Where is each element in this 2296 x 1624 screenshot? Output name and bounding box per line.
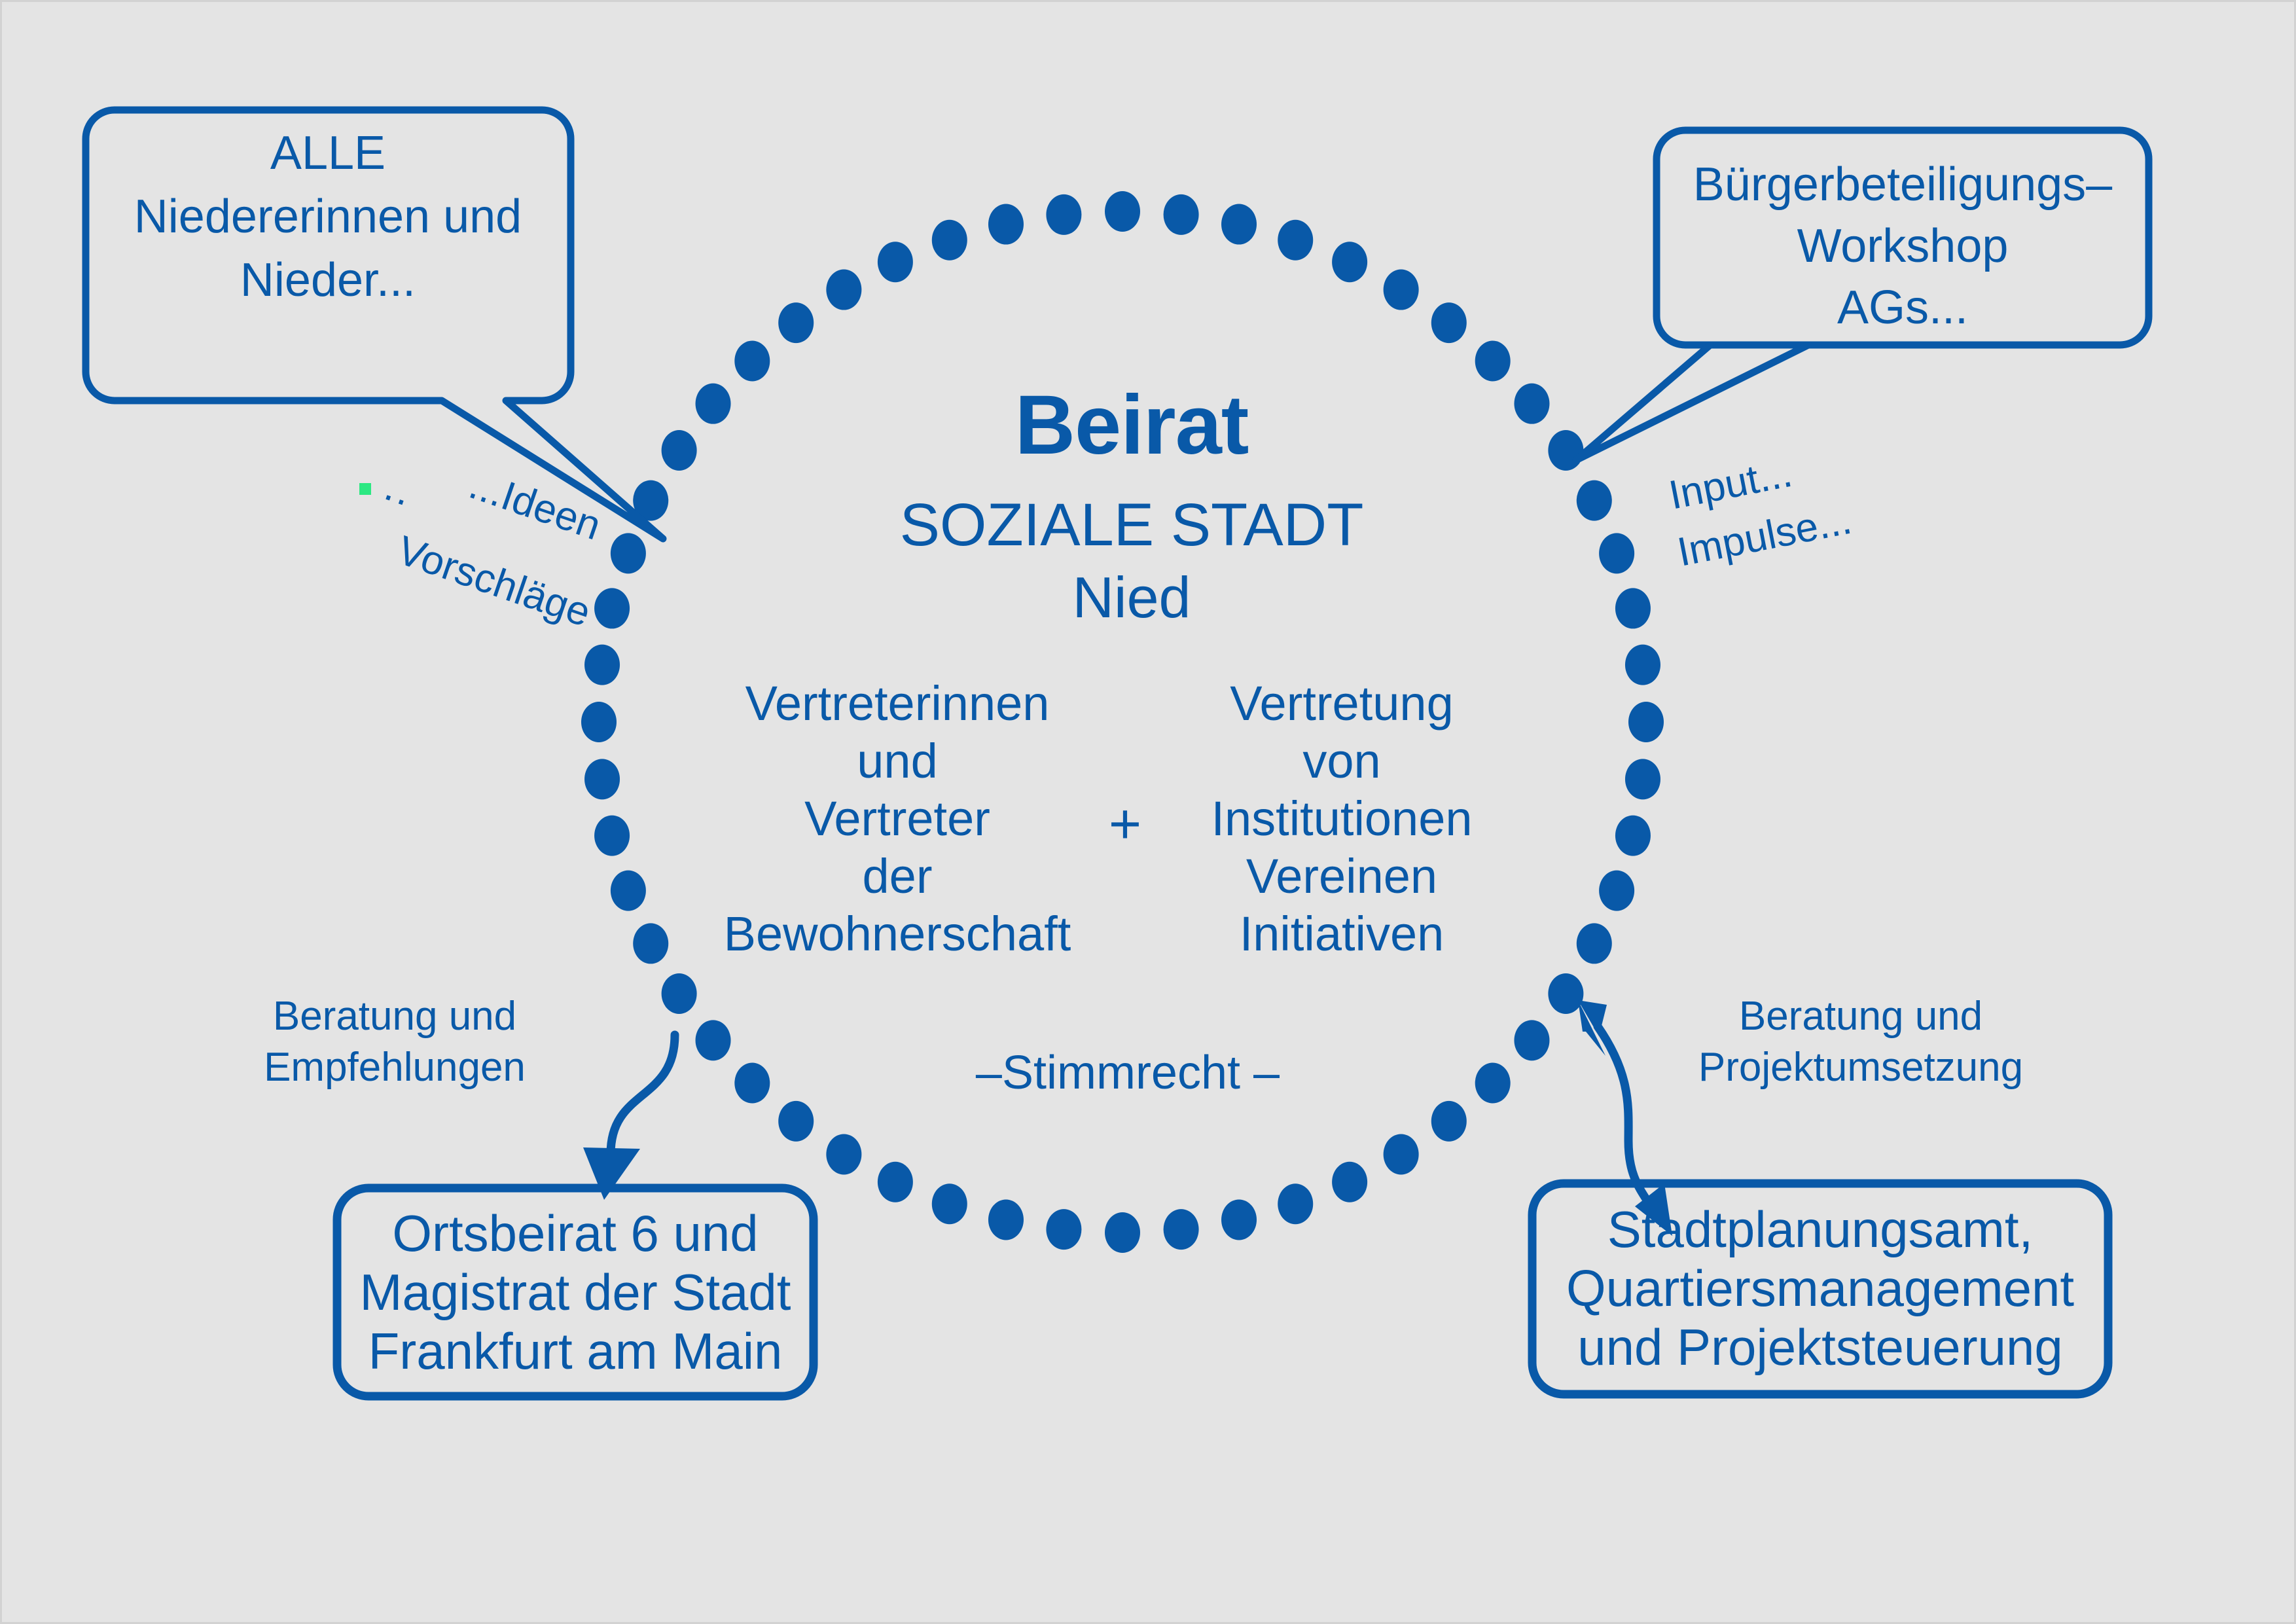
circle-dot	[611, 533, 646, 573]
center-title-block: Beirat SOZIALE STADT Nied	[900, 378, 1364, 630]
circle-dot	[1164, 194, 1199, 235]
annotation-input: Input...	[1666, 450, 1796, 518]
bubble-top-right-line-1: Bürgerbeteiligungs–	[1693, 158, 2113, 211]
circle-dot	[778, 1101, 814, 1142]
circle-dot	[988, 204, 1024, 245]
arrow-left-beratung	[583, 1035, 675, 1200]
left-column-line-2: und	[857, 734, 937, 788]
circle-dot	[826, 270, 861, 310]
bubble-top-left-line-3: Nieder...	[240, 254, 416, 306]
circle-dot	[1625, 645, 1660, 685]
circle-dot	[1046, 1209, 1081, 1250]
circle-dot	[1384, 270, 1419, 310]
circle-dot	[734, 1063, 770, 1104]
circle-dot	[1105, 191, 1140, 232]
box-stadtplanungsamt[interactable]: Stadtplanungsamt, Quartiersmanagement un…	[1532, 1183, 2108, 1394]
circle-dot	[1475, 340, 1511, 381]
circle-dot	[1221, 1199, 1257, 1240]
circle-dot	[1615, 816, 1651, 856]
label-beratung-projektumsetzung-line-1: Beratung und	[1739, 994, 1982, 1039]
label-beratung-empfehlungen-line-1: Beratung und	[273, 994, 516, 1039]
circle-dot	[1278, 220, 1313, 261]
circle-dot	[1105, 1212, 1140, 1253]
circle-dot	[696, 1020, 731, 1060]
circle-dot	[988, 1199, 1024, 1240]
circle-dot	[1577, 480, 1612, 521]
circle-dot	[1431, 1101, 1467, 1142]
beirat-soziale-stadt-diagram: ALLE Niedererinnen und Nieder... Bürgerb…	[2, 2, 2296, 1624]
bubble-top-left-line-2: Niedererinnen und	[134, 190, 522, 243]
bubble-top-left-line-1: ALLE	[270, 127, 386, 179]
circle-dot	[1615, 588, 1651, 628]
speech-bubble-top-left[interactable]: ALLE Niedererinnen und Nieder...	[86, 110, 663, 539]
box-stadtplanungsamt-line-3: und Projektsteuerung	[1577, 1318, 2063, 1376]
left-column-line-1: Vertreterinnen	[745, 676, 1050, 731]
box-ortsbeirat-line-1: Ortsbeirat 6 und	[392, 1204, 758, 1262]
box-ortsbeirat-line-3: Frankfurt am Main	[368, 1322, 783, 1380]
annotation-vorschlaege: Vorschläge	[391, 528, 596, 636]
circle-dot	[878, 242, 913, 282]
stimmrecht-footnote: –Stimmrecht –	[976, 1047, 1280, 1099]
right-column-line-2: von	[1302, 734, 1380, 788]
bubble-top-right-line-3: AGs...	[1837, 281, 1968, 334]
circle-dot	[1548, 430, 1583, 471]
circle-dot	[1431, 302, 1467, 343]
circle-dot	[734, 340, 770, 381]
left-column-line-5: Bewohnerschaft	[724, 907, 1071, 961]
left-column-line-4: der	[863, 849, 933, 903]
circle-dot	[1599, 533, 1634, 573]
circle-dot	[778, 302, 814, 343]
box-stadtplanungsamt-line-2: Quartiersmanagement	[1566, 1259, 2074, 1317]
left-column-line-3: Vertreter	[804, 791, 990, 846]
circle-dot	[1278, 1183, 1313, 1224]
annotation-ellipsis-marker: ··	[375, 472, 416, 524]
arrow-left-curve	[611, 1035, 675, 1154]
circle-dot	[932, 220, 967, 261]
circle-dot	[662, 973, 697, 1014]
circle-dot	[1514, 1020, 1549, 1060]
circle-dot	[1384, 1134, 1419, 1174]
bubble-top-right-line-2: Workshop	[1797, 220, 2009, 272]
box-ortsbeirat-magistrat[interactable]: Ortsbeirat 6 und Magistrat der Stadt Fra…	[337, 1188, 814, 1396]
circle-dot	[1332, 242, 1367, 282]
circle-dot	[1628, 702, 1664, 742]
arrow-right-curve	[1598, 1026, 1650, 1205]
circle-dot	[1599, 871, 1634, 911]
circle-dot	[826, 1134, 861, 1174]
annotation-input-impulse: Input... Impulse...	[1666, 450, 1856, 575]
circle-dot	[1514, 384, 1549, 424]
circle-dot	[594, 816, 630, 856]
center-right-column: Vertretung von Institutionen Vereinen In…	[1211, 676, 1472, 961]
circle-dot	[633, 923, 668, 964]
speech-bubble-top-right[interactable]: Bürgerbeteiligungs– Workshop AGs...	[1576, 130, 2149, 460]
circle-dot	[584, 759, 620, 799]
circle-dot	[584, 645, 620, 685]
annotation-ideen: ...Ideen	[463, 462, 606, 549]
circle-dot	[1577, 923, 1612, 964]
right-column-line-4: Vereinen	[1246, 849, 1437, 903]
label-beratung-projektumsetzung-line-2: Projektumsetzung	[1698, 1045, 2023, 1090]
plus-operator: +	[1109, 793, 1141, 856]
circle-dot	[1221, 204, 1257, 245]
right-column-line-1: Vertretung	[1230, 676, 1453, 731]
speech-bubble-top-right-tail	[1576, 345, 1808, 460]
circle-dot	[1046, 194, 1081, 235]
right-column-line-5: Initiativen	[1240, 907, 1444, 961]
circle-dot	[878, 1162, 913, 1202]
circle-dot	[1475, 1063, 1511, 1104]
circle-dot	[696, 384, 731, 424]
circle-dot	[932, 1183, 967, 1224]
diagram-canvas: ALLE Niedererinnen und Nieder... Bürgerb…	[0, 0, 2296, 1624]
circle-dot	[662, 430, 697, 471]
circle-dot	[1548, 973, 1583, 1014]
annotation-ideen-vorschlaege: ·· ...Ideen Vorschläge	[359, 462, 606, 636]
box-ortsbeirat-line-2: Magistrat der Stadt	[360, 1263, 791, 1321]
center-left-column: Vertreterinnen und Vertreter der Bewohne…	[724, 676, 1071, 961]
circle-dot	[1332, 1162, 1367, 1202]
center-subtitle: SOZIALE STADT	[900, 492, 1364, 558]
label-beratung-empfehlungen-line-2: Empfehlungen	[264, 1045, 526, 1090]
box-stadtplanungsamt-line-1: Stadtplanungsamt,	[1607, 1200, 2033, 1258]
green-square-marker	[359, 483, 371, 495]
circle-dot	[611, 871, 646, 911]
circle-dot	[1625, 759, 1660, 799]
right-column-line-3: Institutionen	[1211, 791, 1472, 846]
center-title: Beirat	[1015, 378, 1249, 472]
center-subtitle-2: Nied	[1073, 565, 1191, 630]
circle-dot	[594, 588, 630, 628]
circle-dot	[581, 702, 617, 742]
circle-dot	[1164, 1209, 1199, 1250]
